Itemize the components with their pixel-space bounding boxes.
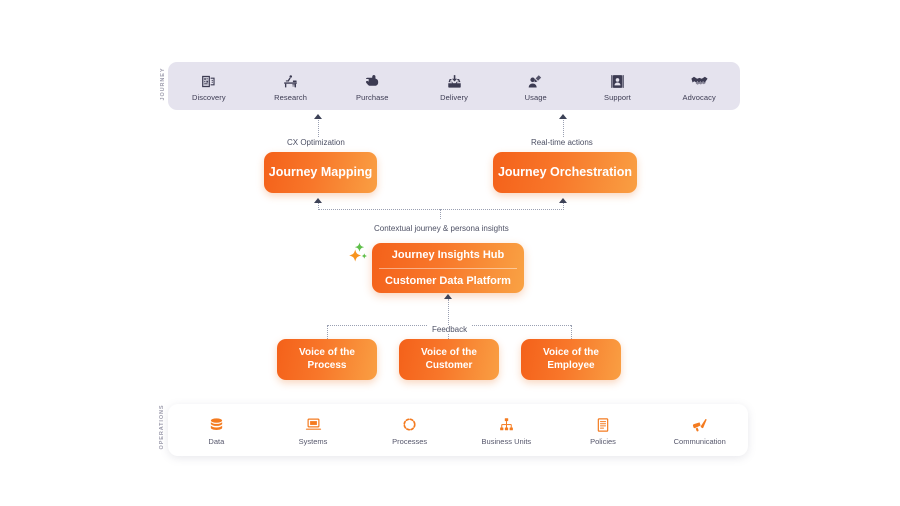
operations-item-label: Business Units (482, 437, 532, 446)
id-badge-icon (609, 71, 626, 90)
operations-item-label: Communication (674, 437, 726, 446)
connector-cx-optimization-arrow (314, 114, 322, 119)
hub-row-insights: Journey Insights Hub (372, 243, 524, 268)
operations-item-label: Policies (590, 437, 616, 446)
document-list-icon (595, 415, 611, 433)
voice-line-1: Voice of the (299, 347, 355, 358)
capability-label: Journey Orchestration (498, 165, 632, 180)
journey-stage-purchase[interactable]: Purchase (331, 71, 413, 102)
connector-feedback-left-drop (327, 325, 328, 339)
connector-insights-left-arrow (314, 198, 322, 203)
connector-label-feedback: Feedback (428, 325, 471, 334)
journey-rail-label: JOURNEY (160, 54, 166, 114)
connector-cx-optimization-line (318, 120, 319, 137)
journey-stage-label: Usage (525, 93, 547, 102)
connector-real-time-line (563, 120, 564, 137)
connector-label-real-time-actions: Real-time actions (527, 138, 597, 147)
inbox-download-icon (446, 71, 463, 90)
operations-item-business-units[interactable]: Business Units (458, 415, 555, 446)
voice-of-the-process[interactable]: Voice of the Process (277, 339, 377, 380)
org-chart-icon (498, 415, 515, 433)
refresh-cycle-icon (401, 415, 418, 433)
diagram-canvas: JOURNEY Discovery (0, 0, 900, 506)
connector-insights-center-stem (440, 209, 441, 219)
journey-stage-label: Discovery (192, 93, 226, 102)
voice-of-the-employee[interactable]: Voice of the Employee (521, 339, 621, 380)
operations-item-communication[interactable]: Communication (651, 415, 748, 446)
connector-insights-left-stem (318, 203, 319, 210)
operations-bar: Data Systems Processes (168, 404, 748, 456)
voice-line-1: Voice of the (421, 347, 477, 358)
hub-line-2: Customer Data Platform (385, 275, 511, 287)
voice-line-2: Employee (547, 360, 594, 371)
voice-line-2: Process (308, 360, 347, 371)
voice-label: Voice of the Customer (421, 347, 477, 371)
connector-label-contextual-insights: Contextual journey & persona insights (370, 224, 513, 233)
journey-stage-label: Advocacy (683, 93, 716, 102)
desk-lamp-icon (282, 71, 299, 90)
hub-line-1: Journey Insights Hub (392, 249, 504, 261)
operations-item-policies[interactable]: Policies (555, 415, 652, 446)
connector-real-time-arrow (559, 114, 567, 119)
connector-label-cx-optimization: CX Optimization (283, 138, 349, 147)
voice-of-the-customer[interactable]: Voice of the Customer (399, 339, 499, 380)
journey-stage-label: Delivery (440, 93, 468, 102)
handshake-icon (690, 71, 709, 90)
journey-stage-support[interactable]: Support (577, 71, 659, 102)
operations-item-systems[interactable]: Systems (265, 415, 362, 446)
database-icon (208, 415, 225, 433)
pointing-hand-icon (363, 71, 381, 90)
operations-rail-label: OPERATIONS (159, 387, 165, 467)
connector-insights-right-arrow (559, 198, 567, 203)
voice-line-2: Customer (426, 360, 473, 371)
journey-stage-delivery[interactable]: Delivery (413, 71, 495, 102)
operations-item-processes[interactable]: Processes (361, 415, 458, 446)
megaphone-icon (691, 415, 708, 433)
capability-journey-mapping[interactable]: Journey Mapping (264, 152, 377, 193)
blueprint-icon (200, 71, 217, 90)
user-activity-icon (527, 71, 544, 90)
voice-line-1: Voice of the (543, 347, 599, 358)
connector-insights-bus (318, 209, 564, 210)
voice-label: Voice of the Process (299, 347, 355, 371)
connector-feedback-arrow (444, 294, 452, 299)
journey-insights-hub[interactable]: Journey Insights Hub Customer Data Platf… (372, 243, 524, 293)
journey-stage-usage[interactable]: Usage (495, 71, 577, 102)
capability-label: Journey Mapping (269, 165, 372, 180)
journey-stage-bar: Discovery Research (168, 62, 740, 110)
operations-item-data[interactable]: Data (168, 415, 265, 446)
journey-stage-research[interactable]: Research (250, 71, 332, 102)
connector-insights-right-stem (563, 203, 564, 210)
operations-item-label: Processes (392, 437, 427, 446)
journey-stage-label: Purchase (356, 93, 389, 102)
operations-item-label: Systems (299, 437, 328, 446)
connector-feedback-center-stem (448, 299, 449, 325)
connector-feedback-right-drop (571, 325, 572, 339)
journey-stage-discovery[interactable]: Discovery (168, 71, 250, 102)
journey-stage-advocacy[interactable]: Advocacy (658, 71, 740, 102)
operations-item-label: Data (208, 437, 224, 446)
voice-label: Voice of the Employee (543, 347, 599, 371)
journey-stage-label: Support (604, 93, 631, 102)
capability-journey-orchestration[interactable]: Journey Orchestration (493, 152, 637, 193)
laptop-icon (305, 415, 322, 433)
journey-stage-label: Research (274, 93, 307, 102)
hub-row-cdp: Customer Data Platform (372, 269, 524, 294)
